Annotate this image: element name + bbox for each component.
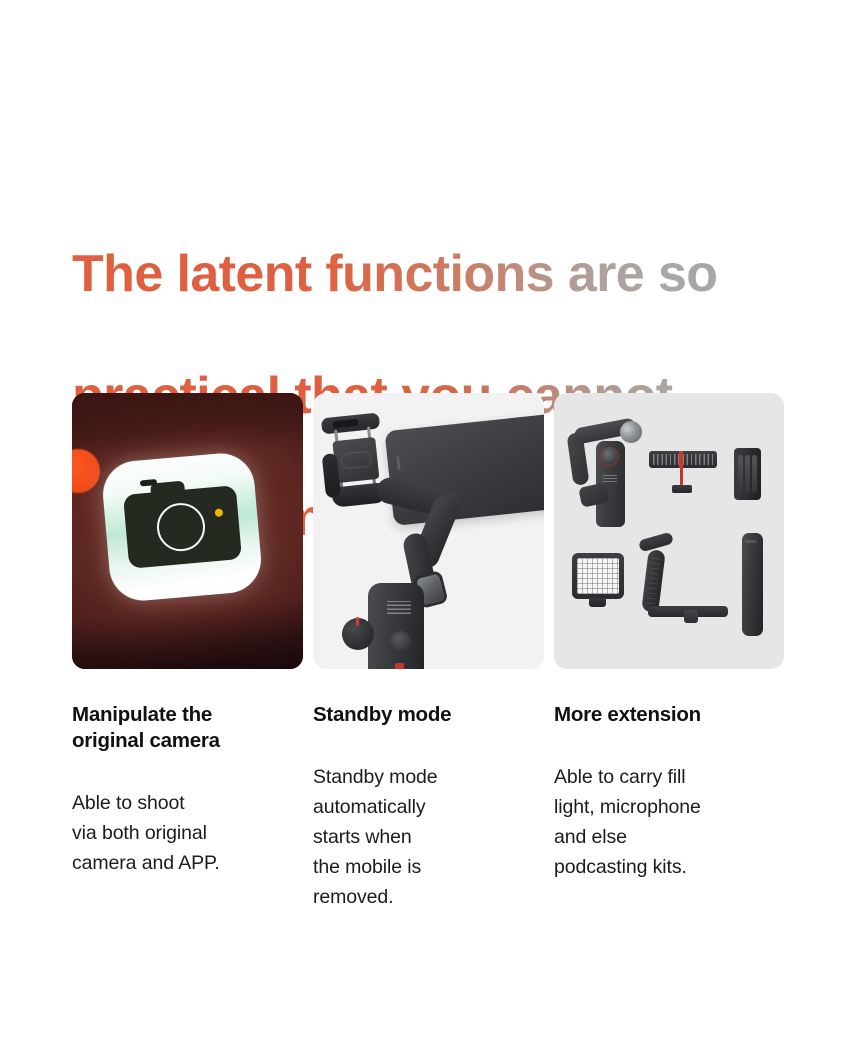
bracket-hand-grip bbox=[641, 549, 665, 613]
gimbal-button-strip bbox=[603, 473, 617, 482]
feature-body-3: Able to carry fill light, microphone and… bbox=[554, 762, 779, 882]
feature-image-camera-app-icon-macro bbox=[72, 393, 303, 669]
record-button bbox=[395, 663, 404, 669]
accessory-flatlay-scene bbox=[554, 393, 784, 669]
feature-column-1: Manipulate the original camera Able to s… bbox=[72, 702, 287, 878]
fill-light-body bbox=[572, 553, 624, 599]
gimbal-stabilizer bbox=[570, 421, 648, 531]
fill-light-led-panel bbox=[577, 558, 619, 594]
feature-image-gimbal-accessory-kit-flatlay bbox=[554, 393, 784, 669]
feature-title-2: Standby mode bbox=[313, 702, 518, 728]
feature-image-gimbal-holding-phone bbox=[313, 393, 544, 669]
feature-title-1: Manipulate the original camera bbox=[72, 702, 287, 754]
microphone-grille bbox=[653, 454, 713, 465]
microphone-cold-shoe bbox=[672, 485, 692, 493]
screen-pixel-grain bbox=[72, 393, 303, 669]
led-fill-light bbox=[572, 553, 624, 609]
extension-rod bbox=[742, 533, 763, 636]
tripod-leg bbox=[738, 455, 743, 493]
fill-light-mount bbox=[589, 598, 606, 607]
gimbal-dial bbox=[600, 447, 619, 466]
feature-body-2: Standby mode automatically starts when t… bbox=[313, 762, 518, 912]
feature-column-2: Standby mode Standby mode automatically … bbox=[313, 702, 518, 912]
handle-texture-strip bbox=[387, 601, 411, 614]
l-bracket-grip bbox=[634, 536, 734, 624]
joystick-control bbox=[390, 631, 411, 652]
feature-title-3: More extension bbox=[554, 702, 779, 728]
microphone-stem bbox=[680, 468, 683, 485]
feature-column-3: More extension Able to carry fill light,… bbox=[554, 702, 779, 882]
clamp-top-jaw bbox=[321, 412, 380, 434]
phone-clamp bbox=[321, 412, 393, 520]
microphone-red-band bbox=[679, 451, 683, 468]
feature-body-1: Able to shoot via both original camera a… bbox=[72, 788, 287, 878]
gimbal-phone-scene bbox=[313, 393, 544, 669]
tripod-leg bbox=[745, 455, 750, 493]
feature-image-row bbox=[72, 393, 784, 669]
promo-page: The latent functions are so practical th… bbox=[0, 0, 856, 1044]
phone-side-button bbox=[396, 456, 400, 470]
gimbal-handle bbox=[368, 583, 424, 669]
shotgun-microphone bbox=[649, 451, 717, 497]
mini-tripod bbox=[734, 448, 761, 500]
headline-line-1: The latent functions are so bbox=[72, 244, 792, 305]
bracket-screw-mount bbox=[684, 610, 698, 623]
clamp-back-plate bbox=[332, 437, 379, 483]
tripod-leg bbox=[752, 455, 757, 493]
microphone-body bbox=[649, 451, 717, 468]
wheel-red-marker bbox=[356, 617, 359, 626]
